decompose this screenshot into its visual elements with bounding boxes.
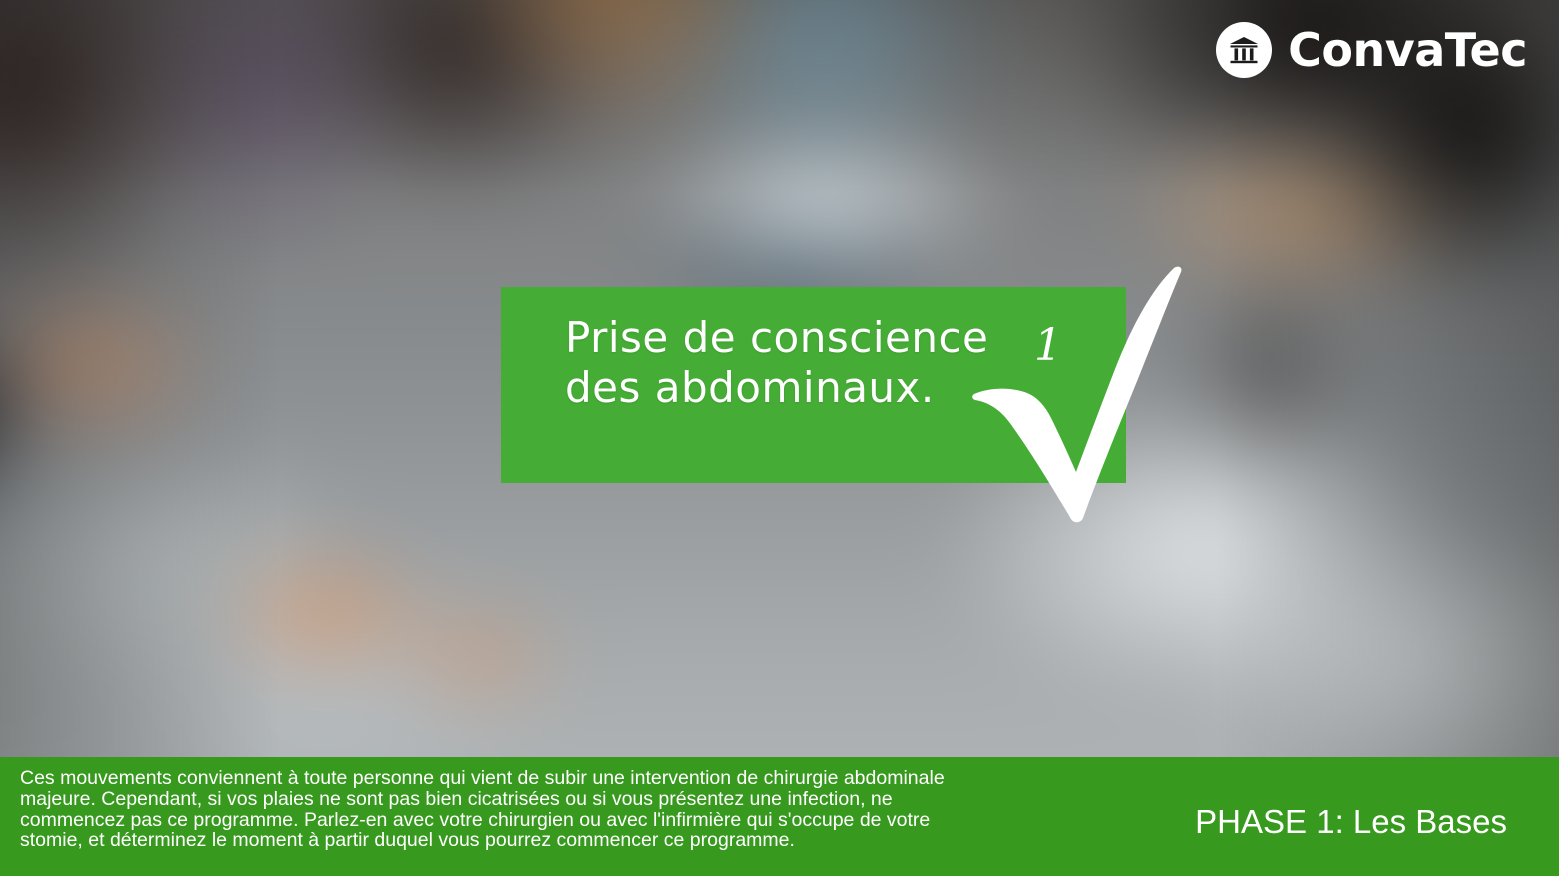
convatec-logo: ConvaTec — [1216, 22, 1527, 78]
step-number: 1 — [1034, 324, 1062, 368]
phase-label: PHASE 1: Les Bases — [1195, 803, 1507, 841]
title-text: Prise de conscience des abdominaux. — [565, 313, 988, 414]
brand-name: ConvaTec — [1288, 27, 1527, 73]
classical-building-icon — [1216, 22, 1272, 78]
video-frame: ConvaTec Prise de conscience des abdomin… — [0, 0, 1559, 876]
caption-text: Ces mouvements conviennent à toute perso… — [20, 768, 960, 851]
caption-bar: Ces mouvements conviennent à toute perso… — [0, 757, 1559, 876]
title-banner: Prise de conscience des abdominaux. 1 — [501, 287, 1126, 483]
